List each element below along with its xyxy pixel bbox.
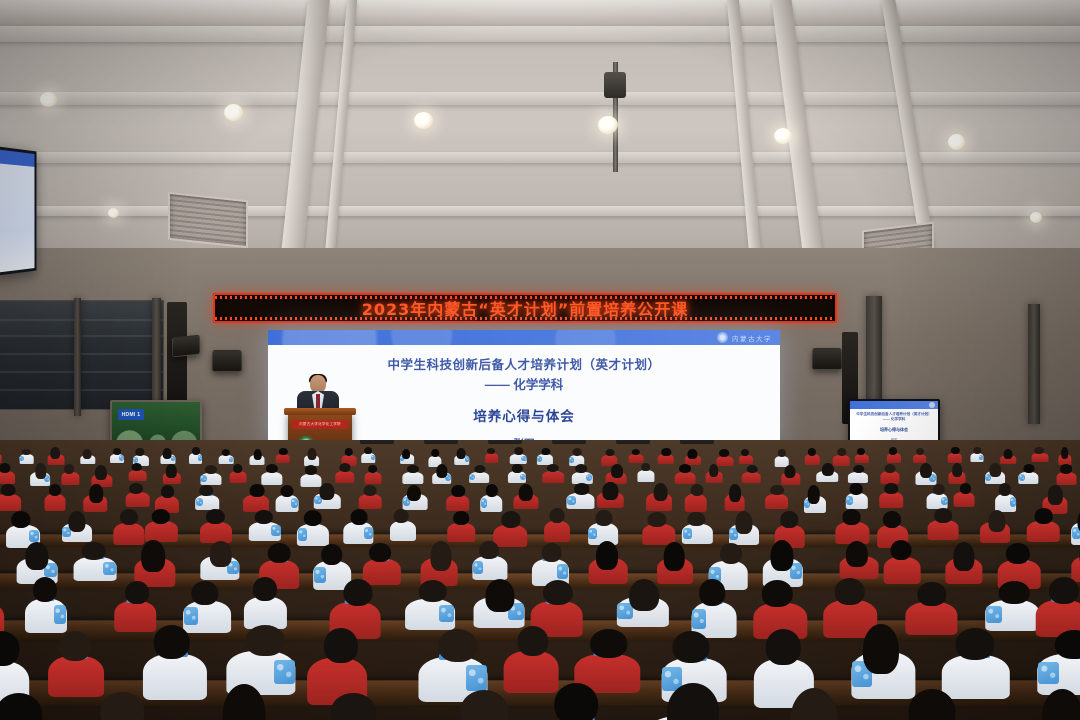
audience-member <box>1058 447 1072 464</box>
audience-member-head <box>364 485 377 496</box>
audience-member <box>945 542 983 584</box>
audience-member-head <box>590 629 627 658</box>
audience-member <box>485 448 499 463</box>
audience-member-head <box>501 511 520 527</box>
audience-member-head <box>64 464 74 473</box>
uniform-shoulder-patch <box>537 456 542 462</box>
audience-member <box>839 541 879 579</box>
audience-member <box>803 485 826 512</box>
audience-member-head <box>280 485 293 498</box>
audience-member <box>642 683 735 720</box>
uniform-shoulder-patch <box>473 561 484 574</box>
audience-member-head <box>842 509 861 525</box>
audience-member-head <box>141 540 165 571</box>
audience-member <box>1035 577 1080 637</box>
audience-member-head <box>517 626 548 656</box>
audience-member-head <box>307 448 316 460</box>
audience-member-head <box>279 448 287 455</box>
audience-member-torso <box>230 471 247 483</box>
audience-member-head <box>206 509 224 524</box>
audience-member <box>674 464 695 485</box>
audience-member <box>200 465 221 485</box>
uniform-shoulder-patch <box>466 665 487 690</box>
audience-member-head <box>989 463 1000 478</box>
audience-member-head <box>1061 464 1073 474</box>
audience-member-torso <box>62 472 79 485</box>
audience-member-head <box>25 542 48 570</box>
audience-member-head <box>543 580 573 606</box>
university-seal-logo-icon <box>717 332 728 343</box>
audience-member <box>219 449 234 464</box>
audience-member-head <box>672 631 709 663</box>
audience-member-head <box>222 684 265 720</box>
audience-member-head <box>955 628 994 660</box>
audience-member <box>297 510 330 547</box>
audience-member <box>0 463 15 484</box>
audience-member-torso <box>742 472 760 483</box>
audience-member <box>48 631 105 697</box>
uniform-shoulder-patch <box>846 496 853 505</box>
audience-member <box>444 690 529 720</box>
uniform-shoulder-patch <box>1019 474 1025 481</box>
audience-member <box>128 463 147 481</box>
audience-member-head <box>916 448 924 455</box>
audience-member <box>1027 508 1060 542</box>
uniform-shoulder-patch <box>567 496 575 505</box>
audience-member-head <box>245 625 285 657</box>
audience-member-head <box>664 542 685 571</box>
audience-member <box>304 448 320 466</box>
ac-vent <box>168 192 248 248</box>
audience-member <box>335 463 355 482</box>
audience-member <box>572 464 593 484</box>
audience-member <box>188 447 202 464</box>
audience-member <box>142 625 207 699</box>
audience-member-head <box>988 510 1005 532</box>
aux-university-logo-icon <box>929 402 935 408</box>
audience-member <box>202 684 278 720</box>
audience-member <box>886 447 900 463</box>
ceiling-cornice <box>0 0 1080 26</box>
audience-member-torso <box>125 492 150 507</box>
audience-member <box>646 483 672 511</box>
audience-member-head <box>407 465 419 474</box>
audience-member <box>402 465 424 485</box>
audience-member-head <box>163 448 172 459</box>
projector-body <box>604 72 626 98</box>
audience-member-torso <box>145 521 177 541</box>
audience-member-head <box>998 483 1010 496</box>
audience-member <box>1056 464 1077 485</box>
audience-member-head <box>430 541 451 571</box>
audience-member <box>230 464 247 483</box>
audience-member-head <box>653 483 668 502</box>
audience-member <box>432 464 452 484</box>
audience-member <box>1037 630 1080 695</box>
audience-member <box>163 464 182 485</box>
audience-member-head <box>606 449 615 457</box>
audience-area <box>0 440 1080 720</box>
audience-member <box>311 693 392 720</box>
audience-member-head <box>784 465 795 479</box>
audience-member <box>657 448 674 464</box>
audience-member <box>446 485 470 511</box>
audience-member <box>706 464 723 483</box>
audience-member <box>985 463 1005 485</box>
audience-member <box>314 483 341 509</box>
led-banner-text: 2023年内蒙古“英才计划”前置培养公开课 <box>362 296 689 320</box>
audience-member-head <box>1024 464 1035 473</box>
audience-member <box>691 579 737 638</box>
audience-member <box>249 449 264 466</box>
audience-member-head <box>129 483 143 494</box>
uniform-shoulder-patch <box>683 528 692 539</box>
uniform-shoulder-patch <box>481 498 488 508</box>
auditorium-photo-scene: 2023年内蒙古“英才计划”前置培养公开课 内蒙古大学 中学生科技创新后备人才培… <box>0 0 1080 720</box>
audience-member <box>536 448 553 465</box>
audience-member-head <box>576 464 588 473</box>
uniform-shoulder-patch <box>439 605 454 622</box>
audience-member-head <box>485 579 514 612</box>
audience-member-head <box>461 690 509 720</box>
audience-member-head <box>790 688 838 720</box>
audience-member-head <box>22 449 30 456</box>
audience-member <box>145 509 178 542</box>
audience-member-head <box>0 484 15 496</box>
aux-monitor-header-bar <box>850 401 938 409</box>
audience-member-head <box>191 581 218 604</box>
podium-banner: 内蒙古大学化学化工学院 <box>292 420 348 429</box>
uniform-shoulder-patch <box>29 530 39 542</box>
audience-member <box>985 581 1040 631</box>
audience-member-head <box>1055 630 1080 659</box>
audience-member <box>402 485 427 510</box>
audience-member <box>1071 540 1080 582</box>
audience-member-head <box>960 483 972 494</box>
audience-member-head <box>126 581 150 604</box>
uniform-shoulder-patch <box>586 474 592 481</box>
audience-member-torso <box>848 472 868 483</box>
audience-member-torso <box>879 492 903 507</box>
audience-member-head <box>747 465 758 473</box>
audience-member-head <box>554 683 598 720</box>
audience-member-torso <box>200 522 232 543</box>
audience-member <box>1000 449 1016 464</box>
stage-chair-back <box>680 440 714 444</box>
uniform-shoulder-patch <box>196 498 203 506</box>
hdmi-input-badge: HDMI 1 <box>118 409 144 420</box>
audience-member <box>134 540 176 587</box>
audience-member-head <box>807 485 820 503</box>
audience-member-head <box>0 631 19 666</box>
audience-member-head <box>719 449 729 457</box>
audience-member <box>948 463 965 483</box>
stage-chair-back <box>360 440 394 444</box>
audience-member-head <box>917 582 946 606</box>
aux-slide-line2: —— 化学学科 <box>883 417 906 422</box>
audience-member-torso <box>855 454 869 464</box>
wall-speaker-left-outer <box>172 335 200 358</box>
audience-member <box>970 447 983 462</box>
window-mullion <box>74 298 81 416</box>
audience-member <box>588 541 627 583</box>
audience-member-head <box>572 448 581 456</box>
audience-member <box>890 689 974 720</box>
audience-member-torso <box>243 495 269 512</box>
uniform-shoulder-patch <box>103 562 116 575</box>
audience-member-torso <box>447 523 474 542</box>
audience-member-head <box>611 464 623 477</box>
audience-member <box>0 448 2 463</box>
audience-member-torso <box>446 495 470 511</box>
audience-member-head <box>631 449 640 456</box>
audience-member <box>88 692 166 720</box>
audience-member-head <box>514 447 523 455</box>
uniform-shoulder-patch <box>364 527 373 539</box>
audience-member-torso <box>543 471 564 483</box>
audience-member <box>775 688 861 720</box>
audience-member-head <box>837 448 846 456</box>
audience-member <box>781 465 801 485</box>
audience-member-head <box>667 683 719 720</box>
audience-member-head <box>11 511 30 527</box>
audience-member-head <box>210 541 232 568</box>
audience-member-head <box>550 508 565 523</box>
audience-member-head <box>487 448 495 455</box>
audience-member <box>248 510 281 540</box>
audience-member-head <box>890 540 911 560</box>
uniform-shoulder-patch <box>119 455 123 460</box>
audience-member-head <box>834 578 865 605</box>
audience-member-head <box>700 579 726 605</box>
audience-member <box>510 447 527 464</box>
ceiling-beam-horizontal <box>0 92 1080 105</box>
audience-member-head <box>920 463 932 478</box>
audience-member-head <box>951 447 959 454</box>
audience-member <box>275 485 298 513</box>
hdmi-badge-label: HDMI 1 <box>122 412 141 418</box>
audience-member-head <box>33 577 57 602</box>
audience-member-torso <box>1056 472 1077 485</box>
audience-member <box>540 683 618 720</box>
audience-member <box>244 577 287 629</box>
audience-member-torso <box>887 453 901 463</box>
audience-member-head <box>884 483 897 494</box>
audience-member-head <box>629 579 659 612</box>
audience-member <box>359 485 382 509</box>
audience-member-head <box>857 448 865 455</box>
audience-member-head <box>688 512 705 527</box>
side-display-monitor-left[interactable] <box>0 146 37 276</box>
audience-member-head <box>365 447 373 454</box>
audience-member-head <box>113 448 121 455</box>
audience-member <box>542 464 564 483</box>
ceiling-downlight <box>948 134 965 150</box>
audience-member-torso <box>0 453 1 462</box>
audience-member-head <box>100 692 143 720</box>
audience-member-head <box>770 540 793 572</box>
audience-member <box>19 449 34 464</box>
audience-member-head <box>934 508 952 522</box>
slide-header-band: 内蒙古大学 <box>268 330 780 345</box>
side-monitor-slide-area <box>0 163 34 276</box>
audience-member-head <box>933 484 945 496</box>
audience-member-head <box>233 464 243 472</box>
audience-member-head <box>0 693 43 720</box>
audience-member-head <box>770 485 784 496</box>
audience-member-head <box>136 448 145 456</box>
window-left <box>0 300 164 410</box>
audience-member <box>628 449 643 464</box>
audience-member-head <box>766 629 800 664</box>
audience-member <box>1031 447 1048 462</box>
ceiling-downlight <box>774 128 792 144</box>
audience-member-torso <box>335 471 354 483</box>
audience-member <box>514 484 540 509</box>
audience-member-head <box>331 693 376 720</box>
ceiling-downlight <box>40 92 57 107</box>
audience-member <box>616 579 669 628</box>
audience-member <box>114 581 156 632</box>
audience-member <box>199 509 232 543</box>
audience-member-head <box>351 509 368 525</box>
audience-member <box>947 447 962 463</box>
audience-member-head <box>1042 689 1080 720</box>
audience-member <box>362 447 376 463</box>
audience-member <box>83 484 107 512</box>
audience-member <box>682 512 713 545</box>
uniform-shoulder-patch <box>588 528 597 540</box>
audience-member-head <box>82 542 107 560</box>
audience-member <box>473 579 525 628</box>
uniform-shoulder-patch <box>314 567 326 583</box>
audience-member <box>472 541 508 580</box>
audience-member-head <box>762 580 793 607</box>
audience-member <box>44 484 65 511</box>
audience-member-torso <box>657 454 674 464</box>
audience-member <box>454 448 470 464</box>
stage-chair-back <box>616 440 650 444</box>
ceiling-downlight <box>224 104 243 121</box>
audience-member-head <box>1049 577 1079 604</box>
audience-member <box>684 449 700 465</box>
audience-member-head <box>547 464 559 473</box>
audience-member <box>994 483 1016 512</box>
audience-member-head <box>90 484 103 503</box>
audience-member-head <box>690 484 703 497</box>
audience-member <box>684 484 707 512</box>
audience-member-head <box>778 449 786 457</box>
audience-member <box>954 483 975 507</box>
audience-member-head <box>153 625 190 658</box>
audience-member <box>400 449 414 464</box>
audience-member-torso <box>0 471 15 484</box>
audience-member-torso <box>880 471 899 484</box>
audience-member-head <box>368 465 378 474</box>
audience-member-head <box>454 511 470 525</box>
audience-member-head <box>952 463 962 477</box>
audience-member-head <box>304 510 322 526</box>
audience-member-head <box>305 465 317 475</box>
audience-member <box>817 463 839 482</box>
audience-member-head <box>518 484 532 501</box>
audience-member-torso <box>947 453 961 463</box>
audience-member <box>61 511 92 542</box>
audience-member <box>404 580 455 630</box>
audience-member-head <box>253 449 262 460</box>
audience-member-torso <box>674 472 695 485</box>
audience-member-head <box>541 543 562 563</box>
audience-member-head <box>253 577 277 600</box>
audience-member <box>805 448 820 465</box>
uniform-shoulder-patch <box>200 475 206 482</box>
audience-member <box>275 448 290 463</box>
audience-member <box>544 508 570 542</box>
audience-member-head <box>419 580 448 603</box>
audience-member-torso <box>276 454 291 464</box>
audience-member-head <box>268 543 291 564</box>
audience-member <box>764 485 788 509</box>
audience-member-head <box>999 581 1030 603</box>
audience-member-head <box>1034 447 1044 454</box>
right-wall-column-far <box>1028 304 1040 424</box>
audience-member <box>927 484 948 510</box>
ceiling-downlight <box>108 208 119 218</box>
audience-member-head <box>1061 447 1069 459</box>
audience-member <box>1023 689 1080 720</box>
audience-member <box>1019 464 1039 484</box>
audience-member-head <box>688 449 697 460</box>
audience-member <box>605 464 626 484</box>
audience-member-head <box>736 511 753 534</box>
audience-member-head <box>456 448 465 459</box>
audience-member-head <box>266 464 278 473</box>
audience-member-head <box>407 485 421 502</box>
audience-member <box>855 448 870 463</box>
audience-member-head <box>1004 449 1013 459</box>
audience-member-head <box>324 628 358 663</box>
audience-member-head <box>953 542 974 570</box>
audience-member <box>739 449 753 465</box>
stage-chair-back <box>552 440 586 444</box>
audience-member <box>0 693 57 720</box>
audience-member <box>389 509 416 542</box>
uniform-shoulder-patch <box>291 498 298 507</box>
audience-member-torso <box>45 494 66 511</box>
uniform-shoulder-patch <box>1010 497 1017 507</box>
led-scrolling-banner: 2023年内蒙古“英才计划”前置培养公开课 <box>213 293 837 323</box>
audience-member-torso <box>359 494 382 509</box>
audience-member <box>846 483 869 509</box>
audience-member-torso <box>261 472 282 485</box>
audience-member <box>637 463 654 482</box>
audience-member-head <box>394 509 409 524</box>
audience-member-head <box>120 509 138 525</box>
audience-member-head <box>369 543 391 562</box>
wall-speaker-right <box>812 348 842 370</box>
uniform-shoulder-patch <box>54 605 67 624</box>
audience-member <box>597 482 624 508</box>
audience-member-torso <box>1027 521 1060 542</box>
slide-subtitle: 培养心得与体会 <box>473 405 575 425</box>
audience-member-torso <box>765 494 789 509</box>
uniform-shoulder-patch <box>229 457 234 462</box>
audience-member-head <box>679 464 691 473</box>
podium-top-surface <box>284 408 356 415</box>
audience-member-head <box>321 544 343 565</box>
audience-member-head <box>437 464 448 477</box>
uniform-shoulder-patch <box>986 606 1002 623</box>
